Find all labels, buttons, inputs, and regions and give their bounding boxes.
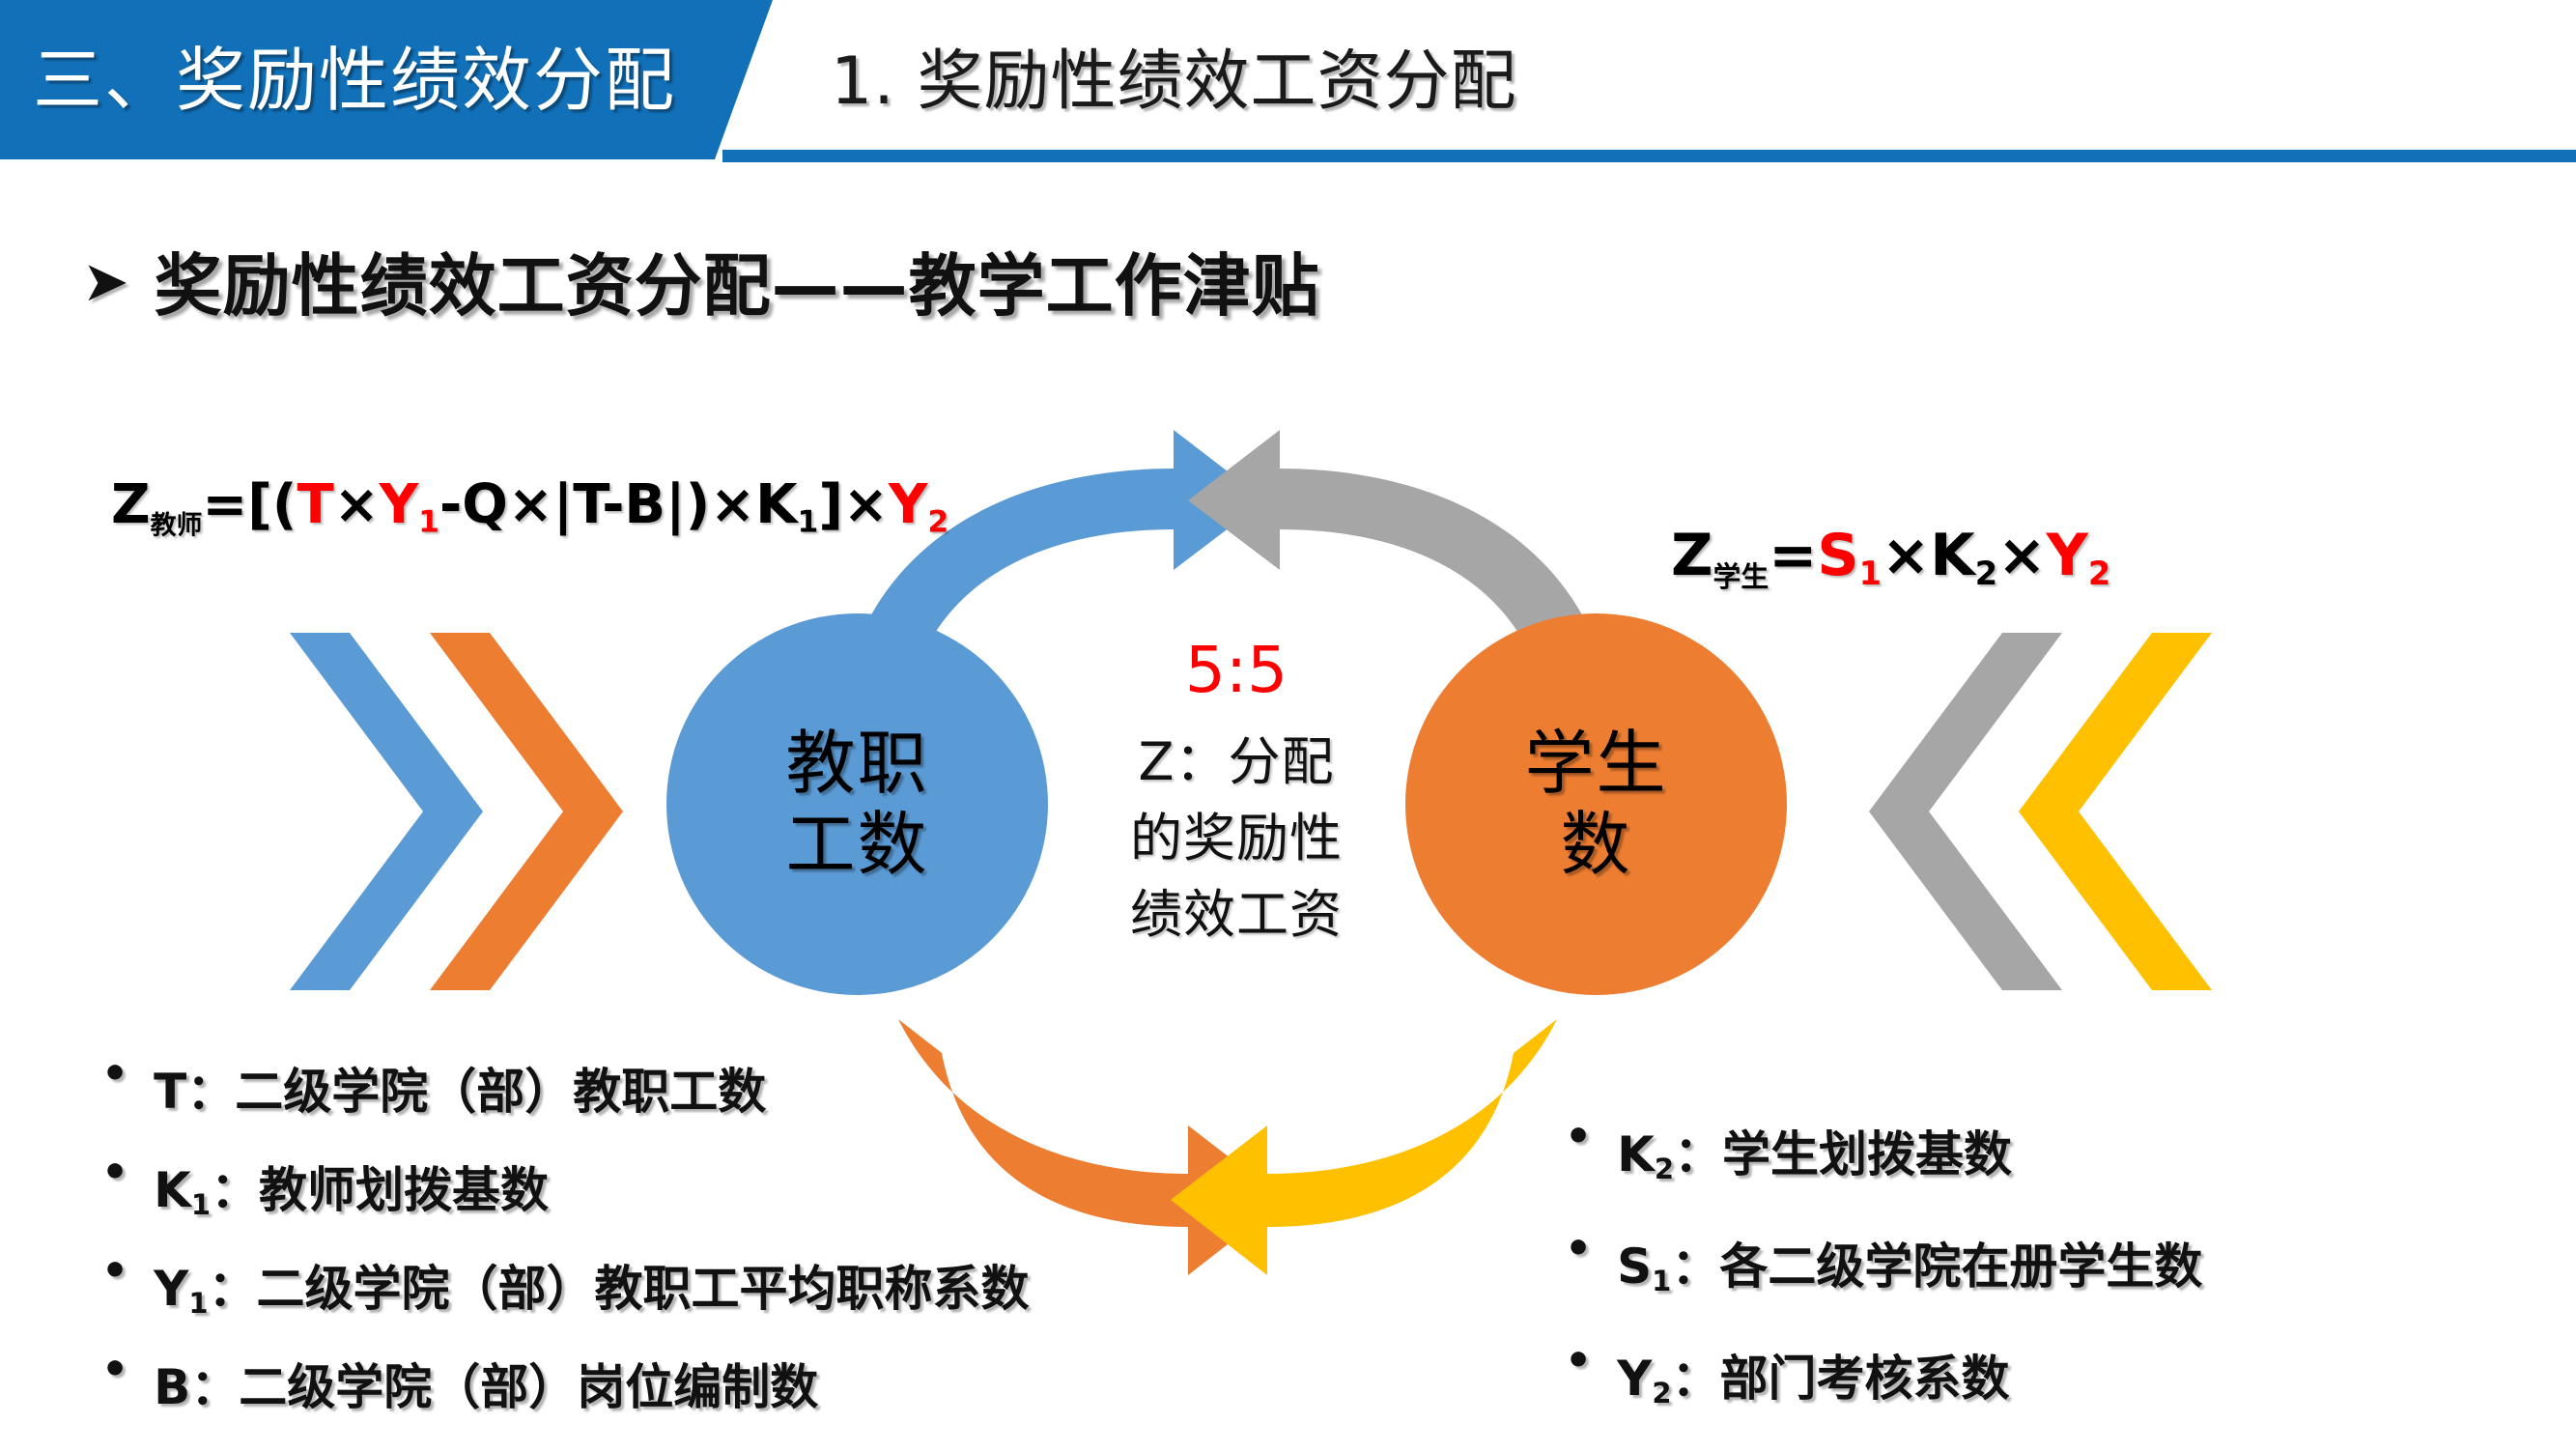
formula-teacher-K1: K1 bbox=[755, 473, 818, 536]
circle-student-line1: 学生 bbox=[1524, 724, 1667, 805]
legend-item-description: ：各二级学院在册学生数 bbox=[1671, 1238, 2202, 1295]
legend-item-symbol: Y bbox=[154, 1261, 188, 1317]
bullet-dot-icon: • bbox=[1565, 1340, 1592, 1382]
circle-student-line2: 数 bbox=[1524, 805, 1667, 886]
formula-student-S1: S1 bbox=[1817, 522, 1882, 589]
legend-item: •K1：教师划拨基数 bbox=[101, 1152, 1030, 1221]
legend-item-description: ：学生划拨基数 bbox=[1674, 1126, 2012, 1182]
legend-item: •K2：学生划拨基数 bbox=[1565, 1116, 2202, 1185]
chevron-orange-icon bbox=[430, 633, 623, 990]
legend-item-description: ：二级学院（部）岗位编制数 bbox=[190, 1359, 818, 1415]
legend-left: •T：二级学院（部）教职工数•K1：教师划拨基数•Y1：二级学院（部）教职工平均… bbox=[101, 1053, 1030, 1447]
circle-teaching-staff-line2: 工数 bbox=[785, 805, 928, 886]
section-title-row: ➤ 奖励性绩效工资分配——教学工作津贴 bbox=[82, 232, 1320, 329]
header-banner-inner: 三、奖励性绩效分配 bbox=[0, 0, 734, 159]
legend-item-symbol: T bbox=[154, 1064, 186, 1120]
bullet-dot-icon: • bbox=[101, 1152, 128, 1194]
legend-item-description: ：二级学院（部）教职工数 bbox=[186, 1064, 766, 1120]
legend-item-symbol: S bbox=[1617, 1238, 1652, 1295]
diagram-canvas: Z教师=[(T×Y1-Q×|T-B|)×K1]×Y2 Z学生=S1×K2×Y2 … bbox=[0, 415, 2576, 1092]
legend-item-description: ：二级学院（部）教职工平均职称系数 bbox=[209, 1261, 1030, 1317]
legend-item-text: K2：学生划拨基数 bbox=[1617, 1116, 2012, 1185]
z-description-line1: Z：分配 bbox=[1091, 725, 1381, 801]
legend-item-text: Y1：二级学院（部）教职工平均职称系数 bbox=[154, 1250, 1029, 1320]
legend-item-symbol: K bbox=[1617, 1126, 1655, 1182]
legend-item-text: S1：各二级学院在册学生数 bbox=[1617, 1228, 2202, 1297]
legend-item: •B：二级学院（部）岗位编制数 bbox=[101, 1349, 1030, 1418]
section-title: 奖励性绩效工资分配——教学工作津贴 bbox=[155, 232, 1320, 329]
legend-item-subscript: 1 bbox=[191, 1188, 211, 1221]
legend-item-description: ：教师划拨基数 bbox=[211, 1162, 549, 1218]
bullet-dot-icon: • bbox=[101, 1053, 128, 1096]
legend-item: •Y1：二级学院（部）教职工平均职称系数 bbox=[101, 1250, 1030, 1320]
z-description: Z：分配 的奖励性 绩效工资 bbox=[1091, 725, 1381, 953]
header-banner-shape: 三、奖励性绩效分配 bbox=[0, 0, 773, 159]
formula-student: Z学生=S1×K2×Y2 bbox=[1671, 522, 2110, 595]
legend-item-text: B：二级学院（部）岗位编制数 bbox=[154, 1349, 818, 1418]
chevron-right-outline-icon: ➤ bbox=[82, 253, 129, 309]
formula-teacher-z: Z bbox=[111, 473, 151, 536]
header-divider-rule bbox=[722, 150, 2576, 162]
z-description-line3: 绩效工资 bbox=[1091, 877, 1381, 954]
formula-teacher-Y1: Y1 bbox=[380, 473, 439, 536]
legend-item-symbol: K bbox=[154, 1162, 191, 1218]
legend-item-subscript: 2 bbox=[1655, 1153, 1674, 1185]
arrow-top-gray-icon bbox=[1188, 430, 1584, 642]
legend-item-description: ：部门考核系数 bbox=[1672, 1351, 2010, 1407]
bullet-dot-icon: • bbox=[101, 1349, 128, 1391]
circle-teaching-staff-line1: 教职 bbox=[785, 724, 928, 805]
formula-student-Y2: Y2 bbox=[2046, 522, 2110, 589]
formula-teacher-z-sub: 教师 bbox=[151, 510, 203, 540]
legend-item-text: K1：教师划拨基数 bbox=[154, 1152, 549, 1221]
bullet-dot-icon: • bbox=[1565, 1228, 1592, 1270]
legend-item-text: Y2：部门考核系数 bbox=[1617, 1340, 2009, 1409]
legend-item-symbol: Y bbox=[1617, 1351, 1652, 1407]
z-description-line2: 的奖励性 bbox=[1091, 801, 1381, 877]
arrow-bottom-yellow-icon bbox=[1171, 1019, 1557, 1275]
chevron-yellow-icon bbox=[2019, 633, 2212, 990]
legend-item-symbol: B bbox=[154, 1359, 190, 1415]
slide-header: 三、奖励性绩效分配 1. 奖励性绩效工资分配 bbox=[0, 0, 2576, 169]
formula-teacher: Z教师=[(T×Y1-Q×|T-B|)×K1]×Y2 bbox=[111, 473, 948, 541]
formula-student-z: Z bbox=[1671, 522, 1713, 589]
legend-item-subscript: 1 bbox=[188, 1287, 208, 1320]
header-subtitle: 1. 奖励性绩效工资分配 bbox=[831, 27, 1517, 123]
legend-item-text: T：二级学院（部）教职工数 bbox=[154, 1053, 766, 1123]
legend-right: •K2：学生划拨基数•S1：各二级学院在册学生数•Y2：部门考核系数 bbox=[1565, 1116, 2202, 1452]
legend-item: •S1：各二级学院在册学生数 bbox=[1565, 1228, 2202, 1297]
ratio-label: 5:5 bbox=[1149, 633, 1323, 707]
formula-teacher-T: T bbox=[297, 473, 333, 536]
formula-student-z-sub: 学生 bbox=[1713, 560, 1769, 593]
legend-item-subscript: 1 bbox=[1652, 1265, 1671, 1297]
legend-item: •T：二级学院（部）教职工数 bbox=[101, 1053, 1030, 1123]
header-section-label: 三、奖励性绩效分配 bbox=[0, 45, 676, 115]
formula-teacher-Y2: Y2 bbox=[889, 473, 948, 536]
formula-student-K2: K2 bbox=[1930, 522, 1997, 589]
circle-teaching-staff-count: 教职 工数 bbox=[666, 613, 1048, 995]
legend-item: •Y2：部门考核系数 bbox=[1565, 1340, 2202, 1409]
legend-item-subscript: 2 bbox=[1652, 1377, 1671, 1409]
bullet-dot-icon: • bbox=[101, 1250, 128, 1293]
bullet-dot-icon: • bbox=[1565, 1116, 1592, 1158]
circle-student-count: 学生 数 bbox=[1405, 613, 1787, 995]
